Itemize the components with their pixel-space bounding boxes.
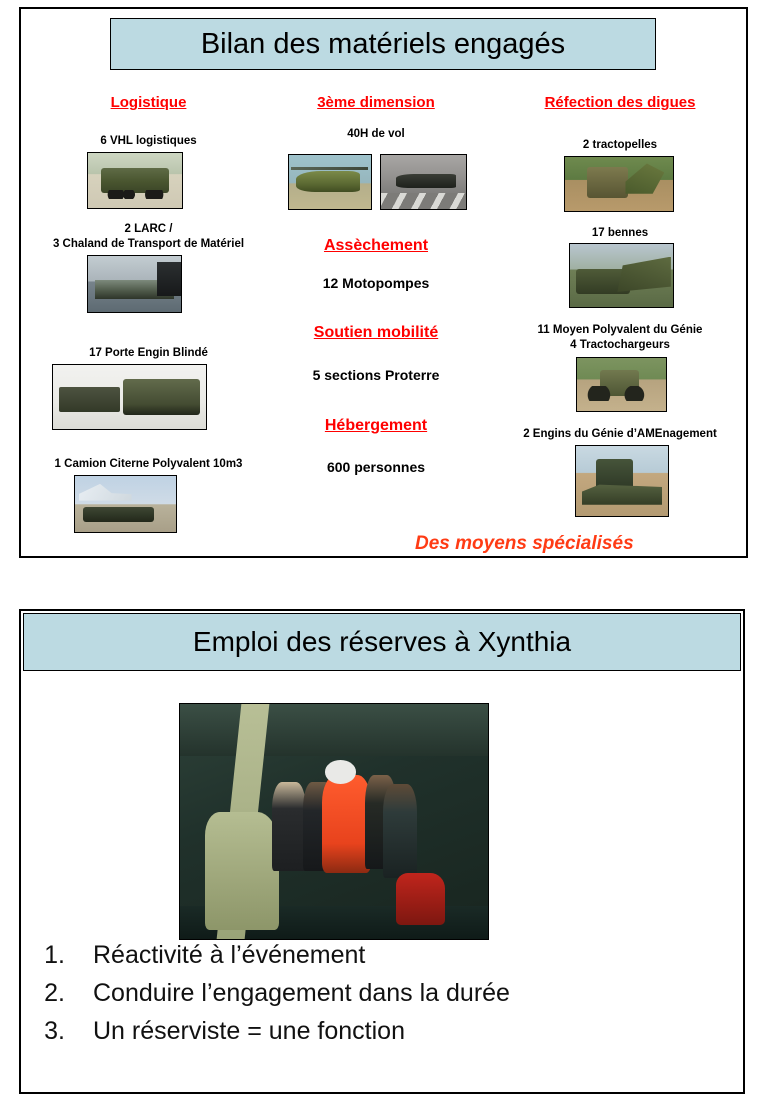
stat-personnes: 600 personnes	[261, 459, 491, 475]
list-item: 1. Réactivité à l’événement	[31, 941, 731, 970]
subheading-assechement: Assèchement	[261, 237, 491, 255]
landing-craft-boat-photo	[87, 255, 182, 313]
list-item-text: Réactivité à l’événement	[93, 941, 365, 970]
column-heading-refection-digues: Réfection des digues	[491, 94, 749, 111]
puma-helicopter-photo	[288, 154, 372, 210]
caption-camion-citerne: 1 Camion Citerne Polyvalent 10m3	[21, 457, 276, 471]
caption-bennes: 17 bennes	[491, 226, 749, 240]
stat-motopompes: 12 Motopompes	[261, 275, 491, 291]
caption-engins-genie-amenagement: 2 Engins du Génie d’AMEnagement	[491, 427, 749, 441]
rescue-crew-member	[322, 775, 371, 874]
caption-larc-line1: 2 LARC /	[21, 222, 276, 236]
caption-tractopelles: 2 tractopelles	[491, 138, 749, 152]
equipment-bag	[205, 812, 279, 930]
caption-tractochargeurs: 4 Tractochargeurs	[491, 338, 749, 352]
slide2-title: Emploi des réserves à Xynthia	[193, 626, 571, 658]
wheel-loader-photo	[576, 357, 667, 412]
stat-sections-proterre: 5 sections Proterre	[261, 367, 491, 383]
list-item: 2. Conduire l’engagement dans la durée	[31, 979, 731, 1008]
caption-porte-engin-blinde: 17 Porte Engin Blindé	[21, 346, 276, 360]
slide2-title-banner: Emploi des réserves à Xynthia	[23, 613, 741, 671]
list-item-number: 3.	[31, 1017, 93, 1046]
list-item-text: Un réserviste = une fonction	[93, 1017, 405, 1046]
subheading-soutien-mobilite: Soutien mobilité	[261, 324, 491, 342]
slide-emploi-reserves: Emploi des réserves à Xynthia 1. Réactiv…	[19, 609, 745, 1094]
subheading-hebergement: Hébergement	[261, 417, 491, 435]
helicopter-roof-region	[180, 704, 488, 756]
slide-bilan-materiels: Bilan des matériels engagés Logistique 6…	[19, 7, 748, 558]
list-item-text: Conduire l’engagement dans la durée	[93, 979, 510, 1008]
helicopter-interior-rescue-photo	[179, 703, 489, 940]
list-item-number: 1.	[31, 941, 93, 970]
slide2-numbered-list: 1. Réactivité à l’événement 2. Conduire …	[31, 941, 731, 1055]
red-kit-bag	[396, 873, 445, 925]
list-item: 3. Un réserviste = une fonction	[31, 1017, 731, 1046]
military-cargo-truck-photo	[87, 152, 183, 209]
column-heading-3eme-dimension: 3ème dimension	[261, 94, 491, 111]
list-item-number: 2.	[31, 979, 93, 1008]
slide1-title-banner: Bilan des matériels engagés	[110, 18, 656, 70]
engineering-vehicle-beach-photo	[575, 445, 669, 517]
slide1-tagline: Des moyens spécialisés	[415, 533, 634, 555]
caption-larc-line2: 3 Chaland de Transport de Matériel	[21, 237, 276, 251]
crew-helmet	[325, 760, 356, 784]
caption-vhl-logistiques: 6 VHL logistiques	[21, 134, 276, 148]
passenger-4	[383, 784, 417, 878]
tank-transporter-photo	[52, 364, 207, 430]
caption-heures-de-vol: 40H de vol	[261, 127, 491, 141]
tiger-helicopter-photo	[380, 154, 467, 210]
slide1-title: Bilan des matériels engagés	[201, 28, 565, 61]
caption-moyen-polyvalent-genie: 11 Moyen Polyvalent du Génie	[491, 323, 749, 337]
passenger-1	[272, 782, 306, 871]
column-heading-logistique: Logistique	[21, 94, 276, 111]
backhoe-loader-photo	[564, 156, 674, 212]
dump-truck-photo	[569, 243, 674, 308]
tanker-truck-aircraft-photo	[74, 475, 177, 533]
